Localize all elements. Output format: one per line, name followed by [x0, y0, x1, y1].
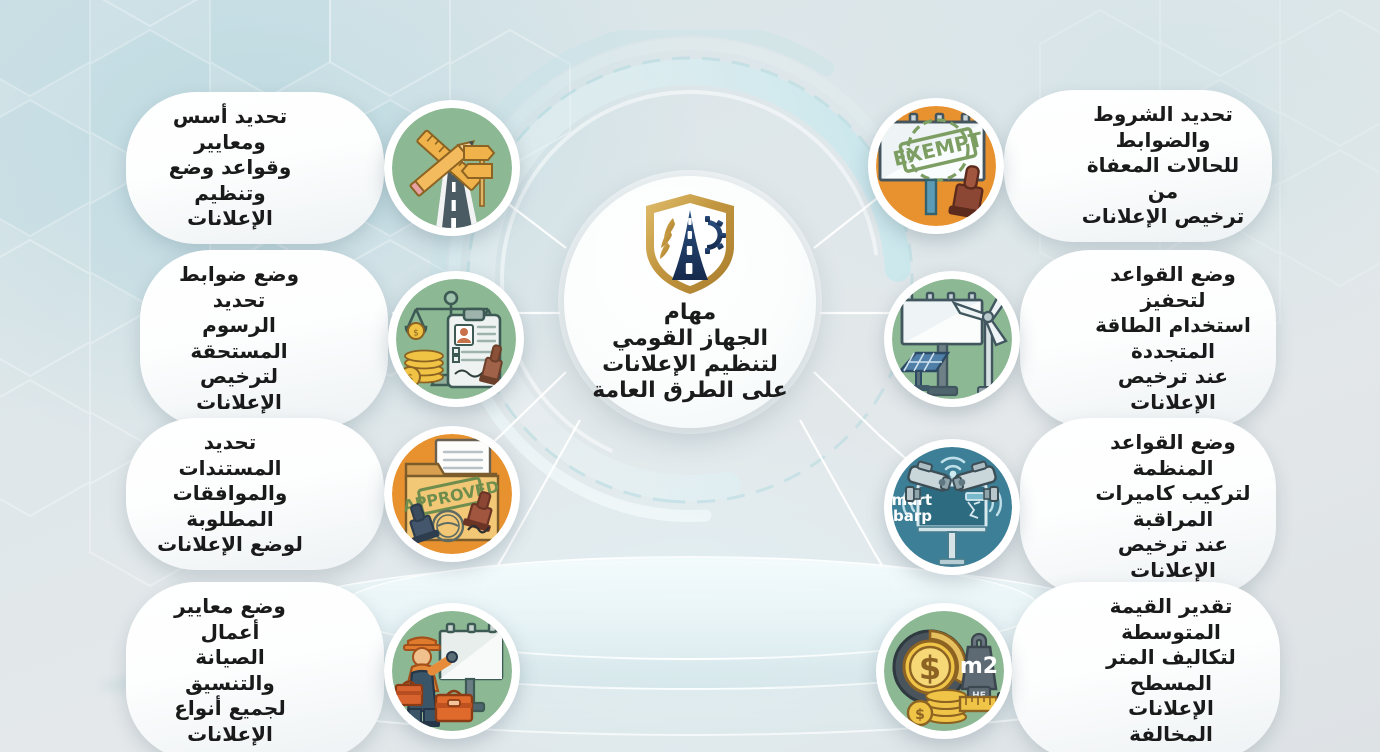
- task-text-right-2: وضع القواعد لتحفيز استخدام الطاقة المتجد…: [1094, 262, 1252, 416]
- task-pill-right-1[interactable]: تحديد الشروط والضوابط للحالات المعفاة من…: [1004, 90, 1272, 242]
- center-title-line-2: الجهاز القومي: [592, 326, 788, 352]
- task-pill-right-3[interactable]: وضع القواعد المنظمة لتركيب كاميرات المرا…: [1020, 418, 1276, 596]
- svg-text:$: $: [919, 649, 941, 687]
- center-title-line-4: على الطرق العامة: [592, 378, 788, 404]
- task-pill-left-1[interactable]: تحديد أسس ومعايير وقواعد وضع وتنظيم الإع…: [126, 92, 384, 244]
- shield-road-gear-logo-icon: [642, 192, 738, 296]
- pencil-ruler-road-signpost-icon: [384, 100, 520, 236]
- task-pill-left-2[interactable]: وضع ضوابط تحديد الرسوم المستحقة لترخيص ا…: [140, 250, 388, 428]
- task-text-left-3: تحديد المستندات والموافقات المطلوبة لوضع…: [150, 430, 310, 558]
- smart-billboard-label-line2: billbarp: [892, 507, 932, 525]
- infographic-canvas: مهام الجهاز القومي لتنظيم الإعلانات على …: [0, 0, 1380, 752]
- task-text-right-3: وضع القواعد المنظمة لتركيب كاميرات المرا…: [1094, 430, 1252, 584]
- scales-coins-clipboard-icon: $ $: [388, 271, 524, 407]
- svg-text:$: $: [407, 371, 414, 384]
- task-item-right-1[interactable]: EXEMPT تحديد الشروط والضوابط للحالات الم…: [924, 90, 1272, 242]
- task-text-left-4: وضع معايير أعمال الصيانة والتنسيق لجميع …: [150, 594, 310, 748]
- task-item-left-3[interactable]: APPROVED: [126, 418, 464, 570]
- center-title: مهام الجهاز القومي لتنظيم الإعلانات على …: [586, 300, 794, 404]
- cctv-smart-billboard-icon: Smart billbarp: [884, 439, 1020, 575]
- task-text-left-1: تحديد أسس ومعايير وقواعد وضع وتنظيم الإع…: [150, 104, 310, 232]
- task-item-left-2[interactable]: $ $: [140, 250, 468, 428]
- svg-text:$: $: [413, 328, 419, 338]
- task-pill-left-3[interactable]: تحديد المستندات والموافقات المطلوبة لوضع…: [126, 418, 384, 570]
- task-pill-right-2[interactable]: وضع القواعد لتحفيز استخدام الطاقة المتجد…: [1020, 250, 1276, 428]
- center-title-line-1: مهام: [592, 300, 788, 326]
- task-pill-left-4[interactable]: وضع معايير أعمال الصيانة والتنسيق لجميع …: [126, 582, 384, 752]
- square-meter-badge-text: m2: [960, 654, 998, 679]
- task-item-right-3[interactable]: Smart billbarp: [940, 418, 1276, 596]
- task-item-left-1[interactable]: تحديد أسس ومعايير وقواعد وضع وتنظيم الإع…: [126, 92, 464, 244]
- task-item-left-4[interactable]: وضع معايير أعمال الصيانة والتنسيق لجميع …: [126, 582, 464, 752]
- coins-square-meter-tape-icon: $ $ m2 HE: [876, 603, 1012, 739]
- billboard-exempt-stamp-icon: EXEMPT: [868, 98, 1004, 234]
- task-text-right-1: تحديد الشروط والضوابط للحالات المعفاة من…: [1078, 102, 1248, 230]
- task-text-right-4: تقدير القيمة المتوسطة لتكاليف المتر المس…: [1086, 594, 1256, 748]
- svg-text:$: $: [915, 707, 925, 723]
- center-node[interactable]: مهام الجهاز القومي لتنظيم الإعلانات على …: [564, 176, 816, 428]
- task-item-right-2[interactable]: وضع القواعد لتحفيز استخدام الطاقة المتجد…: [940, 250, 1276, 428]
- center-title-line-3: لتنظيم الإعلانات: [592, 352, 788, 378]
- solar-panel-wind-turbine-billboard-icon: [884, 271, 1020, 407]
- worker-billboard-maintenance-icon: [384, 603, 520, 739]
- task-pill-right-4[interactable]: تقدير القيمة المتوسطة لتكاليف المتر المس…: [1012, 582, 1280, 752]
- task-text-left-2: وضع ضوابط تحديد الرسوم المستحقة لترخيص ا…: [164, 262, 314, 416]
- folder-approved-stamps-icon: APPROVED: [384, 426, 520, 562]
- task-item-right-4[interactable]: $ $ m2 HE: [932, 582, 1280, 752]
